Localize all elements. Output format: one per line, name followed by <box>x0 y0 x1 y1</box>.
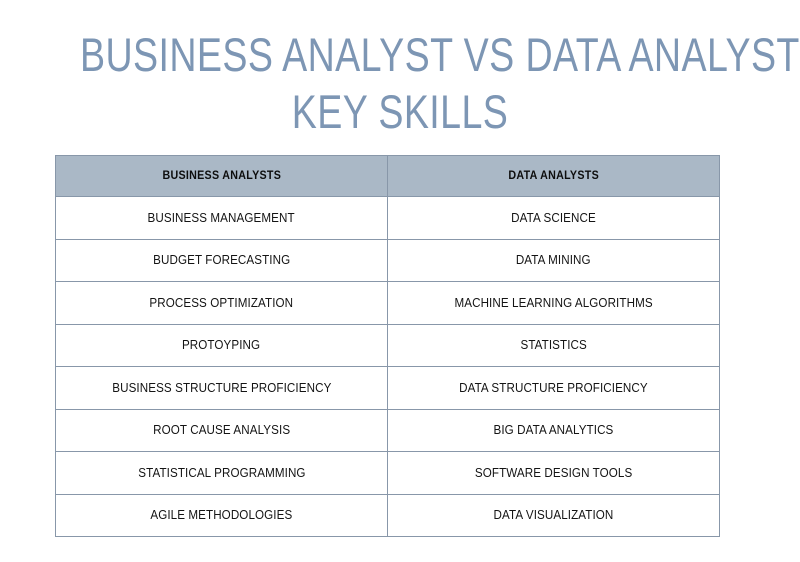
cell-business-analyst-skill: PROTOYPING <box>56 324 388 367</box>
cell-text: AGILE METHODOLOGIES <box>151 508 293 522</box>
cell-business-analyst-skill: BUSINESS STRUCTURE PROFICIENCY <box>56 367 388 410</box>
cell-text: DATA STRUCTURE PROFICIENCY <box>459 381 648 395</box>
cell-data-analyst-skill: DATA VISUALIZATION <box>388 494 720 537</box>
page-title: BUSINESS ANALYST VS DATA ANALYST KEY SKI… <box>0 26 800 140</box>
page-title-line-2: KEY SKILLS <box>80 83 720 140</box>
cell-business-analyst-skill: AGILE METHODOLOGIES <box>56 494 388 537</box>
table-row: BUDGET FORECASTING DATA MINING <box>56 239 720 282</box>
table-row: STATISTICAL PROGRAMMING SOFTWARE DESIGN … <box>56 452 720 495</box>
key-skills-comparison-table: BUSINESS ANALYSTS DATA ANALYSTS BUSINESS… <box>55 155 720 537</box>
comparison-infographic-page: BUSINESS ANALYST VS DATA ANALYST KEY SKI… <box>0 0 800 562</box>
table-row: PROTOYPING STATISTICS <box>56 324 720 367</box>
cell-data-analyst-skill: SOFTWARE DESIGN TOOLS <box>388 452 720 495</box>
cell-data-analyst-skill: DATA SCIENCE <box>388 197 720 240</box>
table-header: BUSINESS ANALYSTS DATA ANALYSTS <box>56 156 720 197</box>
table-row: BUSINESS STRUCTURE PROFICIENCY DATA STRU… <box>56 367 720 410</box>
cell-text: STATISTICS <box>520 338 586 352</box>
column-header-data-analysts: DATA ANALYSTS <box>388 156 720 197</box>
cell-data-analyst-skill: BIG DATA ANALYTICS <box>388 409 720 452</box>
cell-text: SOFTWARE DESIGN TOOLS <box>475 466 632 480</box>
cell-text: PROTOYPING <box>182 338 260 352</box>
column-header-business-analysts-label: BUSINESS ANALYSTS <box>162 170 281 182</box>
cell-business-analyst-skill: BUSINESS MANAGEMENT <box>56 197 388 240</box>
cell-text: STATISTICAL PROGRAMMING <box>138 466 305 480</box>
table-row: ROOT CAUSE ANALYSIS BIG DATA ANALYTICS <box>56 409 720 452</box>
cell-business-analyst-skill: BUDGET FORECASTING <box>56 239 388 282</box>
column-header-business-analysts: BUSINESS ANALYSTS <box>56 156 388 197</box>
cell-business-analyst-skill: STATISTICAL PROGRAMMING <box>56 452 388 495</box>
table-body: BUSINESS MANAGEMENT DATA SCIENCE BUDGET … <box>56 197 720 537</box>
cell-text: ROOT CAUSE ANALYSIS <box>153 423 290 437</box>
cell-text: BUSINESS MANAGEMENT <box>148 211 295 225</box>
cell-text: BUSINESS STRUCTURE PROFICIENCY <box>112 381 331 395</box>
cell-text: BUDGET FORECASTING <box>153 253 290 267</box>
cell-text: DATA SCIENCE <box>511 211 596 225</box>
cell-data-analyst-skill: MACHINE LEARNING ALGORITHMS <box>388 282 720 325</box>
column-header-data-analysts-label: DATA ANALYSTS <box>508 170 599 182</box>
cell-text: MACHINE LEARNING ALGORITHMS <box>454 296 652 310</box>
table-row: PROCESS OPTIMIZATION MACHINE LEARNING AL… <box>56 282 720 325</box>
cell-data-analyst-skill: DATA MINING <box>388 239 720 282</box>
cell-text: DATA VISUALIZATION <box>494 508 614 522</box>
table-header-row: BUSINESS ANALYSTS DATA ANALYSTS <box>56 156 720 197</box>
table-row: AGILE METHODOLOGIES DATA VISUALIZATION <box>56 494 720 537</box>
cell-text: DATA MINING <box>516 253 591 267</box>
cell-text: BIG DATA ANALYTICS <box>494 423 614 437</box>
cell-data-analyst-skill: DATA STRUCTURE PROFICIENCY <box>388 367 720 410</box>
cell-business-analyst-skill: PROCESS OPTIMIZATION <box>56 282 388 325</box>
cell-data-analyst-skill: STATISTICS <box>388 324 720 367</box>
page-title-line-1: BUSINESS ANALYST VS DATA ANALYST <box>80 26 720 83</box>
cell-text: PROCESS OPTIMIZATION <box>150 296 294 310</box>
cell-business-analyst-skill: ROOT CAUSE ANALYSIS <box>56 409 388 452</box>
table-row: BUSINESS MANAGEMENT DATA SCIENCE <box>56 197 720 240</box>
